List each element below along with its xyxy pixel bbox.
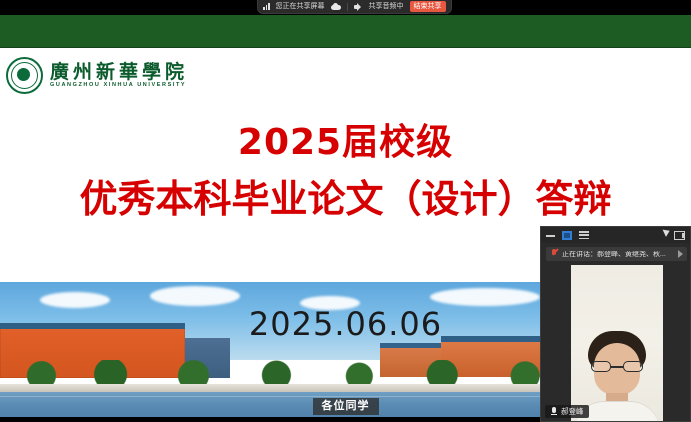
participant-list-icon[interactable]: [579, 231, 589, 239]
participant-name-badge: 郝登峰: [545, 405, 589, 418]
exit-fullscreen-icon[interactable]: [674, 231, 685, 240]
meeting-screen-share-view: 您正在共享屏幕 共享音频中 结束共享 廣州新華學院 GUANGZHOU XINH…: [0, 0, 691, 422]
video-panel[interactable]: 正在讲话：郝登峰、黄继尧、秋... 郝登峰: [540, 226, 691, 422]
audio-share-status-label: 共享音频中: [369, 3, 404, 10]
screen-share-toolbar[interactable]: 您正在共享屏幕 共享音频中 结束共享: [258, 0, 451, 13]
cloud-shape: [430, 288, 540, 306]
active-speaker-bar[interactable]: 正在讲话：郝登峰、黄继尧、秋...: [546, 247, 687, 261]
cloud-shape: [40, 292, 110, 308]
cloud-shape: [150, 286, 240, 306]
chevron-right-icon[interactable]: [678, 250, 683, 258]
toolbar-divider: [347, 3, 348, 11]
live-caption: 各位同学: [313, 398, 379, 415]
participant-video-tile[interactable]: [571, 265, 663, 422]
speaking-label: 正在讲话：郝登峰、黄继尧、秋...: [562, 251, 674, 258]
university-name-cn: 廣州新華學院: [50, 63, 188, 82]
participant-name: 郝登峰: [561, 408, 584, 416]
signal-bars-icon: [263, 3, 270, 10]
end-share-button[interactable]: 结束共享: [410, 1, 446, 12]
glasses-icon: [591, 361, 643, 372]
slide-green-header-band: [0, 15, 691, 48]
cloud-icon[interactable]: [331, 3, 341, 10]
slide-title-line2: 优秀本科毕业论文（设计）答辩: [0, 180, 691, 218]
university-emblem-icon: [6, 57, 43, 94]
minimize-icon[interactable]: [546, 231, 555, 239]
university-logo: 廣州新華學院 GUANGZHOU XINHUA UNIVERSITY: [6, 57, 188, 94]
window-controls[interactable]: [546, 231, 589, 240]
sharing-status-label: 您正在共享屏幕: [276, 3, 325, 10]
logo-text-block: 廣州新華學院 GUANGZHOU XINHUA UNIVERSITY: [50, 63, 188, 89]
restore-window-icon[interactable]: [562, 231, 572, 240]
university-name-en: GUANGZHOU XINHUA UNIVERSITY: [50, 83, 188, 89]
slide-title-line1: 2025届校级: [0, 125, 691, 161]
mic-muted-red-icon: [550, 249, 558, 259]
mic-off-icon: [550, 407, 558, 416]
speaker-icon: [354, 3, 363, 11]
